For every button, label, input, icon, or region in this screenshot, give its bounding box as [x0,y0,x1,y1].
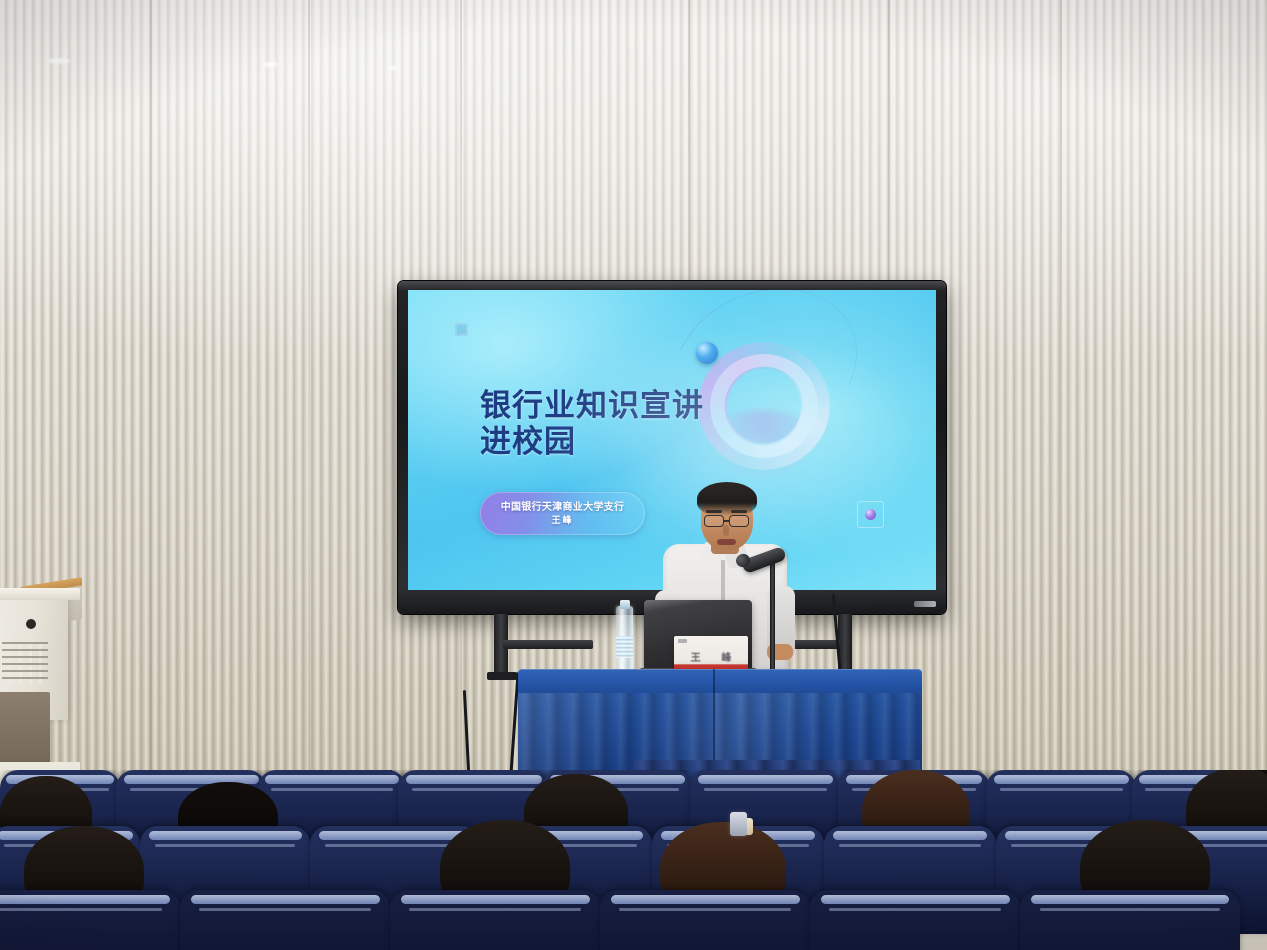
audience-seat [600,890,810,950]
audience-seat [0,890,180,950]
display-brand-logo-icon [914,601,936,607]
audience-seat [180,890,390,950]
speaker-eyebrow-right [731,510,747,513]
audience-seat [810,890,1020,950]
audience-seat [1020,890,1240,950]
wall-scuff-mark [262,62,278,67]
eyeglasses-icon [704,515,724,527]
purple-sphere-graphic [865,509,876,520]
nameplate-text: 王 峰 [682,649,741,664]
speaker-mouth [717,539,736,545]
smartphone-icon [730,812,747,836]
lectern-surface [0,588,80,600]
audience-seating [0,770,1267,950]
eyeglasses-icon [729,515,749,527]
wall-panel-seam [1060,0,1062,830]
wall-scuff-mark [388,66,398,70]
wall-panel-seam [308,0,310,830]
slide-corner-logo-icon [455,323,468,336]
wall-scuff-mark [48,58,70,64]
lecture-hall-photo: 银行业知识宣讲 进校园 中国银行天津商业大学支行 王峰 [0,0,1267,950]
lectern-knob-icon [26,619,36,629]
audience-seat [390,890,600,950]
slide-title-line-1: 银行业知识宣讲 [480,388,704,423]
water-bottle-label [616,636,633,658]
lectern-speaker-grille [2,642,48,684]
display-stand-foot-left [487,672,517,680]
slide-title-line-2: 进校园 [480,424,760,460]
wall-panel-seam [150,0,152,830]
desk-top [518,669,922,695]
microphone-stand [770,560,775,672]
slide-speaker-label: 王峰 [551,514,573,526]
blue-sphere-graphic [696,342,718,364]
slide-title: 银行业知识宣讲 进校园 [480,388,760,460]
slide-organization-label: 中国银行天津商业大学支行 [501,501,625,514]
speaker-eyebrow-left [706,510,722,513]
slide-subtitle-pill: 中国银行天津商业大学支行 王峰 [480,492,645,535]
speaker-nose [723,525,729,536]
display-stand-crossbar-left [503,640,593,649]
eyeglasses-bridge [723,520,730,522]
nameplate-logo-icon [678,639,687,643]
water-bottle-cap [620,600,630,609]
